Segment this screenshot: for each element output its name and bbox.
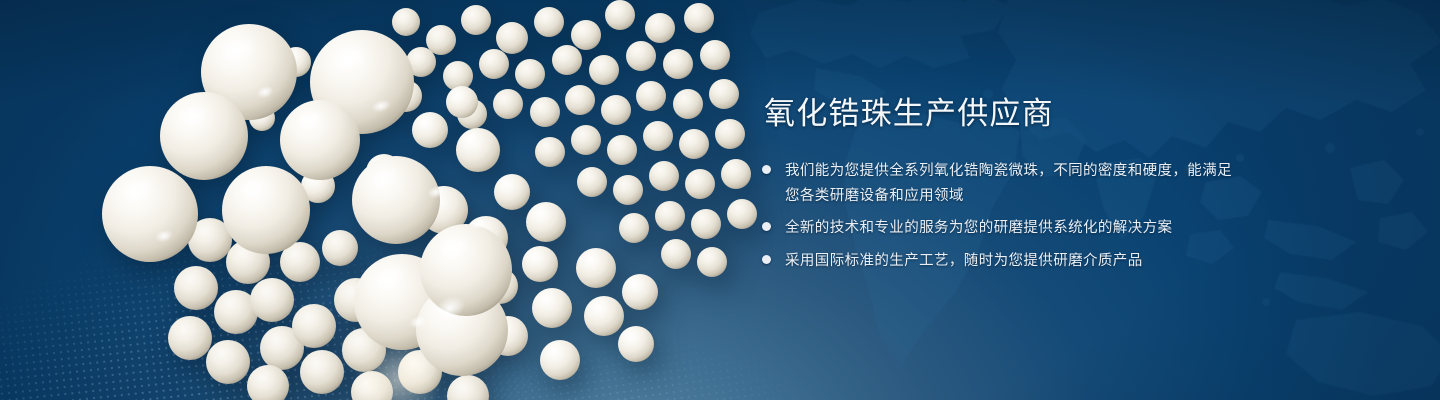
zirconia-beads-image: [0, 0, 760, 400]
page-title: 氧化锆珠生产供应商: [764, 96, 1232, 133]
list-item: 采用国际标准的生产工艺，随时为您提供研磨介质产品: [762, 249, 1232, 274]
hero-banner: 氧化锆珠生产供应商 我们能为您提供全系列氧化锆陶瓷微珠，不同的密度和硬度，能满足…: [0, 0, 1440, 400]
bullet-dot-icon: [762, 255, 771, 264]
list-item-label: 采用国际标准的生产工艺，随时为您提供研磨介质产品: [785, 249, 1143, 274]
bullet-dot-icon: [762, 165, 771, 174]
list-item-label: 全新的技术和专业的服务为您的研磨提供系统化的解决方案: [785, 216, 1172, 241]
list-item: 全新的技术和专业的服务为您的研磨提供系统化的解决方案: [762, 216, 1232, 241]
list-item: 我们能为您提供全系列氧化锆陶瓷微珠，不同的密度和硬度，能满足您各类研磨设备和应用…: [762, 159, 1232, 209]
feature-list: 我们能为您提供全系列氧化锆陶瓷微珠，不同的密度和硬度，能满足您各类研磨设备和应用…: [762, 159, 1232, 275]
bullet-dot-icon: [762, 222, 771, 231]
banner-copy: 氧化锆珠生产供应商 我们能为您提供全系列氧化锆陶瓷微珠，不同的密度和硬度，能满足…: [762, 96, 1232, 274]
list-item-label: 我们能为您提供全系列氧化锆陶瓷微珠，不同的密度和硬度，能满足您各类研磨设备和应用…: [785, 159, 1232, 209]
